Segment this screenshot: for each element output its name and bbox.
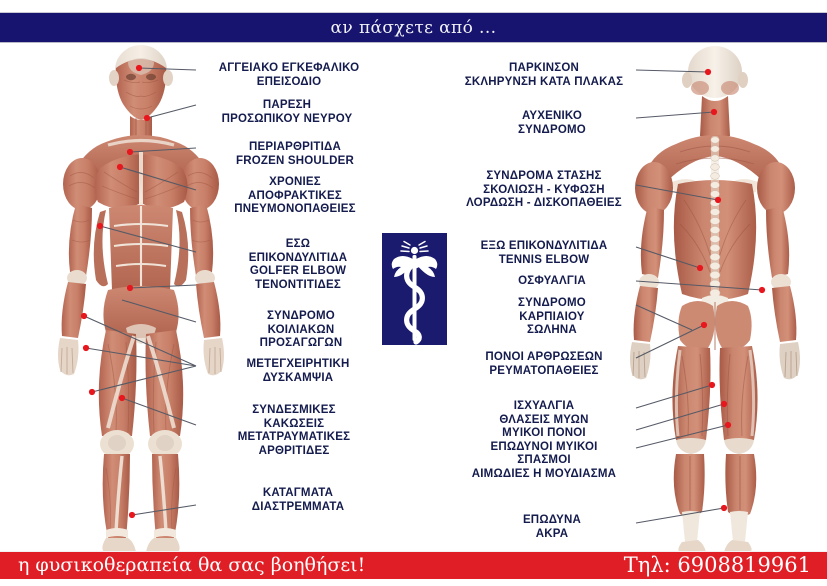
- label-painful-limbs: ΕΠΩΔΥΝΑ ΑΚΡΑ: [468, 514, 636, 541]
- label-tennis-elbow: ΕΞΩ ΕΠΙΚΟΝΔΥΛΙΤΙΔΑ TENNIS ELBOW: [452, 240, 636, 267]
- footer-band: η φυσικοθεραπεία θα σας βοηθήσει! Τηλ: 6…: [0, 551, 827, 579]
- label-frozen-shoulder: ΠΕΡΙΑΡΘΡΙΤΙΔΑ FROZEN SHOULDER: [212, 141, 378, 168]
- label-joint-pain: ΠΟΝΟΙ ΑΡΘΡΩΣΕΩΝ ΡΕΥΜΑΤΟΠΑΘΕΙΕΣ: [452, 351, 636, 378]
- footer-slogan: η φυσικοθεραπεία θα σας βοηθήσει!: [18, 554, 365, 576]
- caduceus-logo: [382, 233, 447, 345]
- header-band: αν πάσχετε από ...: [0, 12, 827, 43]
- label-fractures-sprains: ΚΑΤΑΓΜΑΤΑ ΔΙΑΣΤΡΕΜΜΑΤΑ: [218, 487, 378, 514]
- label-adductor-syndrome: ΣΥΝΔΡΟΜΟ ΚΟΙΛΙΑΚΩΝ ΠΡΟΣΑΓΩΓΩΝ: [224, 310, 378, 351]
- label-posture-syndromes: ΣΥΝΔΡΟΜΑ ΣΤΑΣΗΣ ΣΚΟΛΙΩΣΗ - ΚΥΦΩΣΗ ΛΟΡΔΩΣ…: [452, 170, 636, 211]
- label-sciatica-group: ΙΣΧΥΑΛΓΙΑ ΘΛΑΣΕΙΣ ΜΥΩΝ ΜΥΙΚΟΙ ΠΟΝΟΙ ΕΠΩΔ…: [452, 400, 636, 481]
- label-facial-palsy: ΠΑΡΕΣΗ ΠΡΟΣΩΠΙΚΟΥ ΝΕΥΡΟΥ: [196, 99, 378, 126]
- label-cervical-syndrome: ΑΥΧΕΝΙΚΟ ΣΥΝΔΡΟΜΟ: [468, 110, 636, 137]
- label-ligament-injuries: ΣΥΝΔΕΣΜΙΚΕΣ ΚΑΚΩΣΕΙΣ ΜΕΤΑΤΡΑΥΜΑΤΙΚΕΣ ΑΡΘ…: [210, 404, 378, 458]
- label-copd: ΧΡΟΝΙΕΣ ΑΠΟΦΡΑΚΤΙΚΕΣ ΠΝΕΥΜΟΝΟΠΑΘΕΙΕΣ: [212, 176, 378, 217]
- label-golfer-elbow: ΕΣΩ ΕΠΙΚΟΝΔΥΛΙΤΙΔΑ GOLFER ELBOW: [218, 238, 378, 279]
- label-stroke: ΑΓΓΕΙΑΚΟ ΕΓΚΕΦΑΛΙΚΟ ΕΠΕΙΣΟΔΙΟ: [200, 62, 378, 89]
- label-carpal-tunnel: ΣΥΝΔΡΟΜΟ ΚΑΡΠΙΑΙΟΥ ΣΩΛΗΝΑ: [468, 297, 636, 338]
- label-parkinson-ms: ΠΑΡΚΙΝΣΟΝ ΣΚΛΗΡΥΝΣΗ ΚΑΤΑ ΠΛΑΚΑΣ: [452, 62, 636, 89]
- label-low-back-pain: ΟΣΦΥΑΛΓΙΑ: [468, 275, 636, 289]
- page-title: αν πάσχετε από ...: [331, 18, 497, 38]
- label-post-op-stiffness: ΜΕΤΕΓΧΕΙΡΗΤΙΚΗ ΔΥΣΚΑΜΨΙΑ: [218, 358, 378, 385]
- footer-phone-number[interactable]: Τηλ: 6908819961: [624, 553, 811, 577]
- label-tendinitis: ΤΕΝΟΝΤΙΤΙΔΕΣ: [218, 279, 378, 293]
- poster-root: αν πάσχετε από ... ΑΓΓΕΙΑΚΟ ΕΓΚΕΦΑΛΙΚΟ Ε…: [0, 0, 827, 586]
- posterior-muscular-figure: [620, 44, 810, 552]
